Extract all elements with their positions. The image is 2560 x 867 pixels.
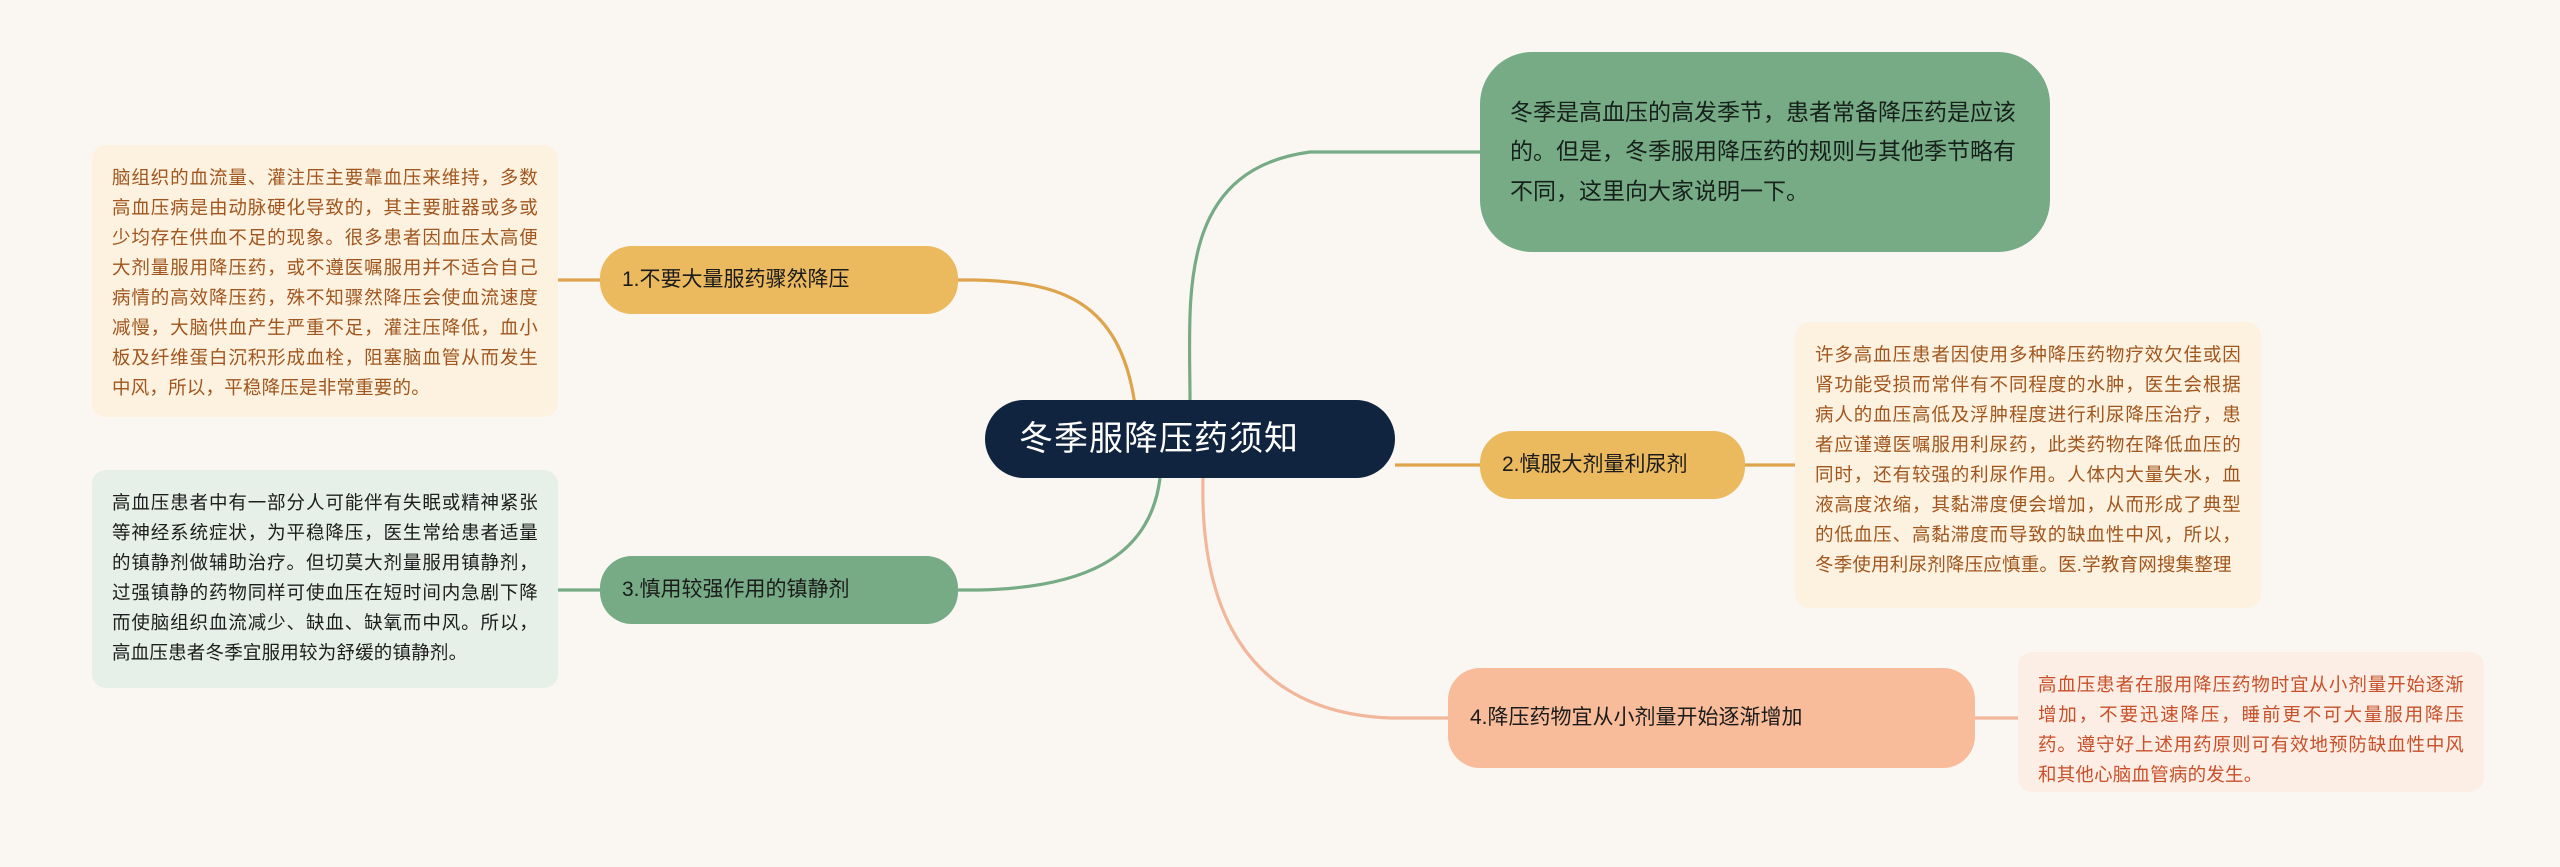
branch-label-2: 2.慎服大剂量利尿剂: [1502, 450, 1723, 480]
detail-card-1[interactable]: 脑组织的血流量、灌注压主要靠血压来维持，多数高血压病是由动脉硬化导致的，其主要脏…: [92, 145, 558, 417]
branch-label-3: 3.慎用较强作用的镇静剂: [622, 575, 936, 605]
connector-root-to-branch-4: [1203, 478, 1448, 718]
detail-text-2: 许多高血压患者因使用多种降压药物疗效欠佳或因肾功能受损而常伴有不同程度的水肿，医…: [1815, 340, 2241, 580]
root-title: 冬季服降压药须知: [1019, 418, 1361, 461]
branch-label-4: 4.降压药物宜从小剂量开始逐渐增加: [1470, 703, 1953, 733]
root-node[interactable]: 冬季服降压药须知: [985, 400, 1395, 478]
detail-card-2[interactable]: 许多高血压患者因使用多种降压药物疗效欠佳或因肾功能受损而常伴有不同程度的水肿，医…: [1795, 322, 2261, 608]
branch-node-2[interactable]: 2.慎服大剂量利尿剂: [1480, 431, 1745, 499]
branch-node-4[interactable]: 4.降压药物宜从小剂量开始逐渐增加: [1448, 668, 1975, 768]
intro-text: 冬季是高血压的高发季节，患者常备降压药是应该的。但是，冬季服用降压药的规则与其他…: [1510, 93, 2020, 212]
detail-card-4[interactable]: 高血压患者在服用降压药物时宜从小剂量开始逐渐增加，不要迅速降压，睡前更不可大量服…: [2018, 652, 2484, 792]
branch-label-1: 1.不要大量服药骤然降压: [622, 265, 936, 295]
connector-root-to-intro: [1190, 152, 1480, 400]
detail-card-3[interactable]: 高血压患者中有一部分人可能伴有失眠或精神紧张等神经系统症状，为平稳降压，医生常给…: [92, 470, 558, 688]
connector-root-to-branch-1: [958, 280, 1135, 405]
branch-node-3[interactable]: 3.慎用较强作用的镇静剂: [600, 556, 958, 624]
detail-text-1: 脑组织的血流量、灌注压主要靠血压来维持，多数高血压病是由动脉硬化导致的，其主要脏…: [112, 163, 538, 403]
branch-node-1[interactable]: 1.不要大量服药骤然降压: [600, 246, 958, 314]
connector-root-to-branch-3: [958, 478, 1160, 590]
detail-text-3: 高血压患者中有一部分人可能伴有失眠或精神紧张等神经系统症状，为平稳降压，医生常给…: [112, 488, 538, 668]
detail-text-4: 高血压患者在服用降压药物时宜从小剂量开始逐渐增加，不要迅速降压，睡前更不可大量服…: [2038, 670, 2464, 790]
intro-bubble[interactable]: 冬季是高血压的高发季节，患者常备降压药是应该的。但是，冬季服用降压药的规则与其他…: [1480, 52, 2050, 252]
mindmap-canvas: 冬季服降压药须知 冬季是高血压的高发季节，患者常备降压药是应该的。但是，冬季服用…: [0, 0, 2560, 867]
